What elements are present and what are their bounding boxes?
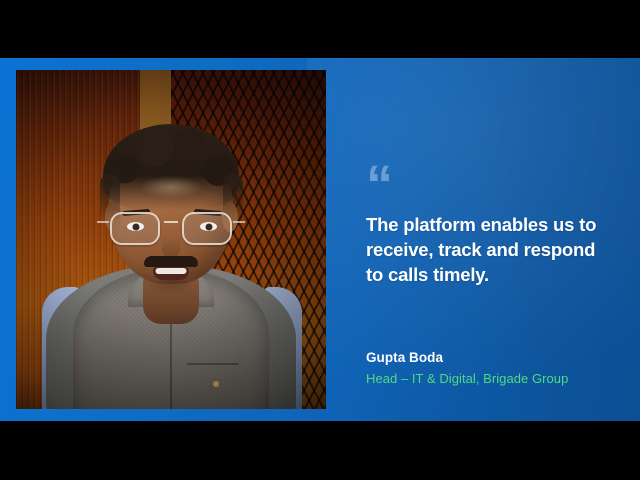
slide-background: “ The platform enables us to receive, tr… [0,58,640,421]
quote-mark-icon: “ [366,158,391,212]
portrait-photo [16,70,326,409]
attribution-name: Gupta Boda [366,348,606,368]
quote-text: The platform enables us to receive, trac… [366,213,602,287]
testimonial-slide: “ The platform enables us to receive, tr… [0,0,640,480]
quote-column: “ The platform enables us to receive, tr… [366,58,616,421]
letterbox-bar-top [0,0,640,58]
letterbox-bar-bottom [0,421,640,480]
attribution: Gupta Boda Head – IT & Digital, Brigade … [366,348,606,388]
attribution-role: Head – IT & Digital, Brigade Group [366,370,606,389]
photo-vignette [16,70,326,409]
